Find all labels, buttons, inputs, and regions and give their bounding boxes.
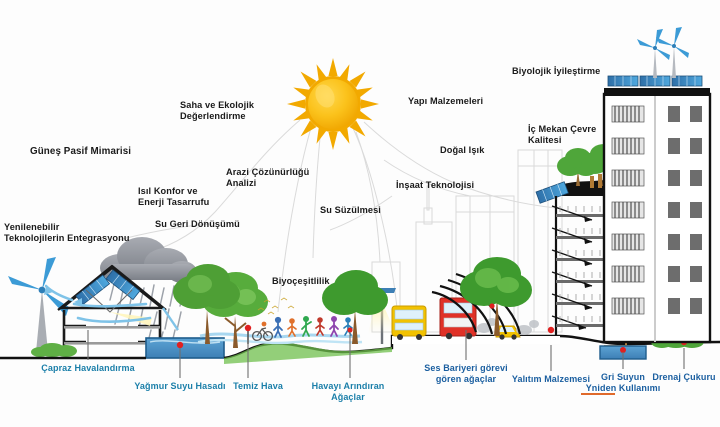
bus-icon bbox=[392, 306, 426, 340]
label-gunes-pasif-mimarisi: Güneş Pasif Mimarisi bbox=[30, 146, 131, 158]
label-ses-bariyeri-goren-agaclar: Ses Bariyeri görevi gören ağaçlar bbox=[424, 363, 507, 384]
label-arazi-cozunurlugu-analizi: Arazi Çözünürlüğü Analizi bbox=[226, 167, 309, 189]
label-temiz-hava: Temiz Hava bbox=[233, 381, 283, 392]
label-yapi-malzemeleri: Yapı Malzemeleri bbox=[408, 96, 483, 107]
tower-block bbox=[604, 27, 710, 342]
infographic-canvas: Güneş Pasif MimarisiYenilenebilir Teknol… bbox=[0, 0, 720, 427]
label-gri-suyun-yeniden-kullanimi: Gri Suyun Yniden Kullanımı bbox=[586, 372, 661, 393]
label-biyocesitlilik: Biyoçeşitlilik bbox=[272, 276, 330, 287]
greywater-underline-accent bbox=[581, 393, 615, 395]
rain-drops bbox=[110, 284, 184, 343]
label-insaat-teknolojisi: İnşaat Teknolojisi bbox=[396, 180, 474, 191]
marker-dot bbox=[177, 342, 183, 348]
label-drenaj-cukuru: Drenaj Çukuru bbox=[652, 372, 715, 383]
label-yenilenebilir-teknolojilerin-entegrasyonu: Yenilenebilir Teknolojilerin Entegrasyon… bbox=[4, 222, 130, 244]
solar-panel-facade bbox=[536, 182, 568, 204]
label-havayi-arindiran-agaclar: Havayı Arındıran Ağaçlar bbox=[312, 381, 385, 402]
label-isil-konfor-ve-enerji-tasarrufu: Isıl Konfor ve Enerji Tasarrufu bbox=[138, 186, 209, 208]
label-capraz-havalandirma: Çapraz Havalandırma bbox=[41, 363, 134, 374]
marker-dot bbox=[548, 327, 554, 333]
wind-turbine-left bbox=[8, 257, 69, 352]
label-su-geri-donusumu: Su Geri Dönüşümü bbox=[155, 219, 240, 230]
label-saha-ve-ekolojik-degerlendirme: Saha ve Ekolojik Değerlendirme bbox=[180, 100, 254, 122]
label-ic-mekan-cevre-kalitesi: İç Mekan Çevre Kalitesi bbox=[528, 124, 596, 146]
label-biyolojik-iyilestirme: Biyolojik İyileştirme bbox=[512, 66, 600, 77]
label-su-suzulmesi: Su Süzülmesi bbox=[320, 205, 381, 216]
wind-turbine-roof-1 bbox=[637, 29, 670, 78]
label-dogal-isik: Doğal Işık bbox=[440, 145, 484, 156]
sun-icon bbox=[287, 58, 379, 150]
label-yalitim-malzemesi: Yalıtım Malzemesi bbox=[512, 374, 590, 385]
label-yagmur-suyu-hasadi: Yağmur Suyu Hasadı bbox=[134, 381, 225, 392]
